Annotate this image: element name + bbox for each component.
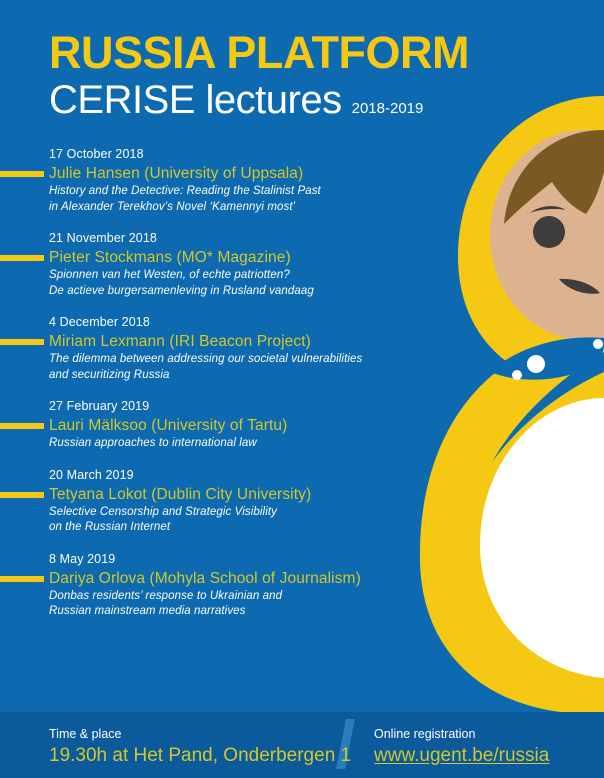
lecture-list: 17 October 2018 Julie Hansen (University… bbox=[0, 145, 400, 634]
speaker-row: Julie Hansen (University of Uppsala) bbox=[49, 163, 400, 184]
footer-registration: Online registration www.ugent.be/russia bbox=[374, 726, 549, 768]
poster-root: RUSSIA PLATFORM CERISE lectures 2018-201… bbox=[0, 0, 604, 778]
lecture-topic-line: Russian approaches to international law bbox=[49, 436, 400, 452]
lecture-topic-line: Donbas residents’ response to Ukrainian … bbox=[49, 589, 400, 605]
lecture-date: 4 December 2018 bbox=[49, 313, 400, 331]
lecture-speaker: Lauri Mälksoo (University of Tartu) bbox=[49, 417, 287, 434]
speaker-row: Pieter Stockmans (MO* Magazine) bbox=[49, 247, 400, 268]
doll-dot-large bbox=[527, 355, 545, 373]
lecture-speaker: Julie Hansen (University of Uppsala) bbox=[49, 165, 303, 182]
bullet-dash-icon bbox=[0, 492, 44, 498]
title-block: RUSSIA PLATFORM CERISE lectures 2018-201… bbox=[49, 30, 469, 120]
lecture-speaker: Tetyana Lokot (Dublin City University) bbox=[49, 486, 311, 503]
lecture-date: 17 October 2018 bbox=[49, 145, 400, 163]
speaker-row: Miriam Lexmann (IRI Beacon Project) bbox=[49, 331, 400, 352]
lecture-item: 4 December 2018 Miriam Lexmann (IRI Beac… bbox=[0, 313, 400, 383]
lecture-speaker: Miriam Lexmann (IRI Beacon Project) bbox=[49, 333, 311, 350]
doll-face bbox=[490, 130, 604, 340]
speaker-row: Lauri Mälksoo (University of Tartu) bbox=[49, 415, 400, 436]
speaker-row: Dariya Orlova (Mohyla School of Journali… bbox=[49, 568, 400, 589]
doll-dot-tiny bbox=[593, 339, 603, 349]
bullet-dash-icon bbox=[0, 255, 44, 261]
lecture-item: 8 May 2019 Dariya Orlova (Mohyla School … bbox=[0, 550, 400, 620]
subtitle-row: CERISE lectures 2018-2019 bbox=[49, 80, 469, 120]
doll-hair bbox=[504, 130, 604, 224]
doll-dot-small bbox=[512, 370, 522, 380]
registration-label: Online registration bbox=[374, 726, 549, 743]
footer-time-place: Time & place 19.30h at Het Pand, Onderbe… bbox=[49, 726, 351, 768]
lecture-topic: History and the Detective: Reading the S… bbox=[49, 184, 400, 215]
lecture-item: 21 November 2018 Pieter Stockmans (MO* M… bbox=[0, 229, 400, 299]
lecture-topic: Donbas residents’ response to Ukrainian … bbox=[49, 589, 400, 620]
lecture-topic: Russian approaches to international law bbox=[49, 436, 400, 452]
lecture-date: 27 February 2019 bbox=[49, 397, 400, 415]
registration-url-link[interactable]: www.ugent.be/russia bbox=[374, 745, 549, 766]
lecture-date: 20 March 2019 bbox=[49, 466, 400, 484]
lecture-speaker: Dariya Orlova (Mohyla School of Journali… bbox=[49, 570, 361, 587]
lecture-topic-line: Selective Censorship and Strategic Visib… bbox=[49, 505, 400, 521]
time-place-label: Time & place bbox=[49, 726, 351, 743]
lecture-topic: Selective Censorship and Strategic Visib… bbox=[49, 505, 400, 536]
time-place-value: 19.30h at Het Pand, Onderbergen 1 bbox=[49, 743, 351, 768]
doll-smile bbox=[559, 279, 600, 294]
bullet-dash-icon bbox=[0, 576, 44, 582]
bullet-dash-icon bbox=[0, 423, 44, 429]
doll-stem-decoration bbox=[492, 352, 604, 462]
doll-body-shape bbox=[420, 330, 604, 712]
bullet-dash-icon bbox=[0, 171, 44, 177]
lecture-topic-line: De actieve burgersamenleving in Rusland … bbox=[49, 284, 400, 300]
bullet-dash-icon bbox=[0, 339, 44, 345]
speaker-row: Tetyana Lokot (Dublin City University) bbox=[49, 484, 400, 505]
lecture-topic-line: Spionnen van het Westen, of echte patrio… bbox=[49, 268, 400, 284]
lecture-date: 8 May 2019 bbox=[49, 550, 400, 568]
page-subtitle: CERISE lectures bbox=[49, 80, 342, 120]
lecture-topic-line: on the Russian Internet bbox=[49, 520, 400, 536]
doll-leaf-decoration bbox=[490, 337, 604, 379]
lecture-topic-line: and securitizing Russia bbox=[49, 368, 400, 384]
doll-eyebrow bbox=[530, 206, 566, 213]
lecture-topic-line: Russian mainstream media narratives bbox=[49, 604, 400, 620]
lecture-item: 27 February 2019 Lauri Mälksoo (Universi… bbox=[0, 397, 400, 452]
lecture-item: 20 March 2019 Tetyana Lokot (Dublin City… bbox=[0, 466, 400, 536]
lecture-topic-line: in Alexander Terekhov’s Novel ‘Kamennyi … bbox=[49, 200, 400, 216]
lecture-date: 21 November 2018 bbox=[49, 229, 400, 247]
lecture-speaker: Pieter Stockmans (MO* Magazine) bbox=[49, 249, 291, 266]
doll-eye bbox=[533, 216, 565, 248]
lecture-topic: The dilemma between addressing our socie… bbox=[49, 352, 400, 383]
page-title: RUSSIA PLATFORM bbox=[49, 30, 469, 75]
lecture-topic: Spionnen van het Westen, of echte patrio… bbox=[49, 268, 400, 299]
lecture-topic-line: History and the Detective: Reading the S… bbox=[49, 184, 400, 200]
lecture-topic-line: The dilemma between addressing our socie… bbox=[49, 352, 400, 368]
doll-headscarf bbox=[458, 96, 604, 392]
season-label: 2018-2019 bbox=[352, 100, 424, 117]
lecture-item: 17 October 2018 Julie Hansen (University… bbox=[0, 145, 400, 215]
registration-url-row: www.ugent.be/russia bbox=[374, 743, 549, 768]
doll-apron bbox=[480, 398, 604, 678]
doll-scarf-drape bbox=[455, 330, 604, 520]
